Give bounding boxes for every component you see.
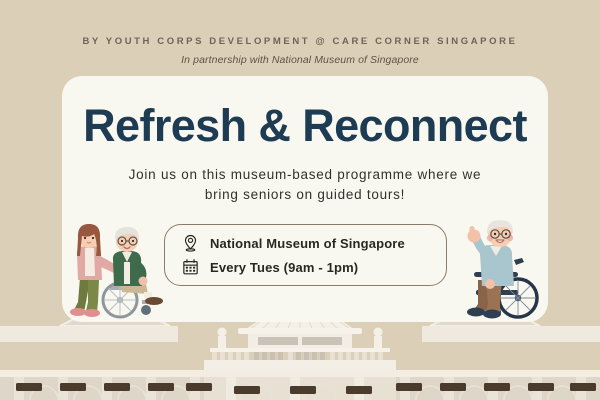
credit-line: BY YOUTH CORPS DEVELOPMENT @ CARE CORNER… bbox=[0, 36, 600, 47]
poster: BY YOUTH CORPS DEVELOPMENT @ CARE CORNER… bbox=[0, 0, 600, 400]
calendar-icon bbox=[182, 258, 199, 276]
partnership-line: In partnership with National Museum of S… bbox=[0, 54, 600, 66]
subtitle-line-1: Join us on this museum-based programme w… bbox=[129, 167, 482, 182]
subtitle-line-2: bring seniors on guided tours! bbox=[205, 187, 405, 202]
page-title: Refresh & Reconnect bbox=[62, 103, 548, 148]
event-details-box: National Museum of Singapore bbox=[164, 224, 447, 286]
venue-text: National Museum of Singapore bbox=[210, 236, 405, 251]
subtitle: Join us on this museum-based programme w… bbox=[62, 165, 548, 205]
location-pin-icon bbox=[182, 234, 199, 252]
venue-row: National Museum of Singapore bbox=[182, 234, 405, 252]
senior-thumbs-up-illustration bbox=[456, 218, 548, 320]
caregiver-and-senior-illustration bbox=[58, 216, 166, 320]
schedule-row: Every Tues (9am - 1pm) bbox=[182, 258, 358, 276]
schedule-text: Every Tues (9am - 1pm) bbox=[210, 260, 358, 275]
